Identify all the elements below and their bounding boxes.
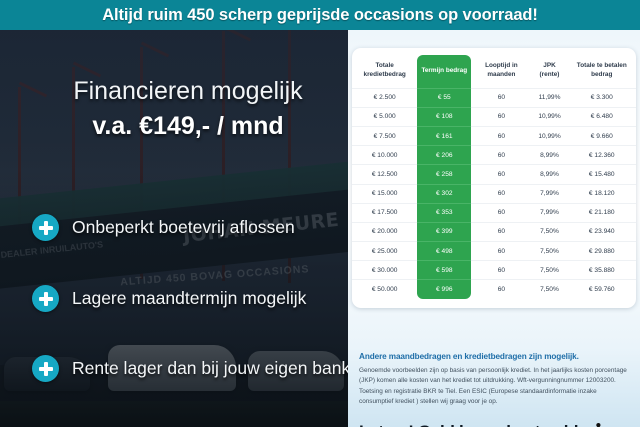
left-pane: JOHAN MEURE DEALER INRUILAUTO'S ALTIJD 4… [0, 30, 348, 427]
col-header-duration: Looptijd in maanden [471, 55, 531, 88]
col-header-term-amount: Termijn bedrag [417, 55, 471, 88]
cell-term-amount: € 55 [417, 88, 471, 107]
col-header-total-payable: Totale te betalen bedrag [567, 55, 636, 88]
cell-term-amount: € 258 [417, 165, 471, 184]
bullet-item-1: Onbeperkt boetevrij aflossen [32, 214, 295, 241]
cell-jpk: 7,99% [532, 203, 568, 222]
table-row: € 50.000 € 996 60 7,50% € 59.760 [352, 280, 636, 299]
rate-table-body: € 2.500 € 55 60 11,99% € 3.300 € 5.000 €… [352, 88, 636, 299]
running-man-icon [583, 422, 605, 427]
cell-duration: 60 [471, 261, 531, 280]
cell-total-credit: € 15.000 [352, 184, 417, 203]
cell-total-credit: € 50.000 [352, 280, 417, 299]
cell-term-amount: € 498 [417, 242, 471, 261]
cell-total-credit: € 10.000 [352, 146, 417, 165]
col-header-total-credit: Totale kredietbedrag [352, 55, 417, 88]
cell-jpk: 7,99% [532, 184, 568, 203]
cell-duration: 60 [471, 184, 531, 203]
table-row: € 12.500 € 258 60 8,99% € 15.480 [352, 165, 636, 184]
warning-block: Let op! Geld lenen kost geld [359, 422, 605, 427]
cell-term-amount: € 598 [417, 261, 471, 280]
cell-jpk: 8,99% [532, 165, 568, 184]
table-row: € 15.000 € 302 60 7,99% € 18.120 [352, 184, 636, 203]
cell-term-amount: € 353 [417, 203, 471, 222]
rate-table: Totale kredietbedrag Termijn bedrag Loop… [352, 55, 636, 299]
note-body: Genoemde voorbeelden zijn op basis van p… [359, 366, 627, 408]
cell-duration: 60 [471, 165, 531, 184]
col-header-jpk: JPK (rente) [532, 55, 568, 88]
cell-duration: 60 [471, 126, 531, 145]
table-row: € 30.000 € 598 60 7,50% € 35.880 [352, 261, 636, 280]
cell-jpk: 7,50% [532, 280, 568, 299]
cell-total-payable: € 6.480 [567, 107, 636, 126]
finance-title: Financieren mogelijk [38, 78, 338, 104]
cell-duration: 60 [471, 107, 531, 126]
table-row: € 17.500 € 353 60 7,99% € 21.180 [352, 203, 636, 222]
plus-icon [32, 355, 59, 382]
cell-total-payable: € 18.120 [567, 184, 636, 203]
rate-table-card: Totale kredietbedrag Termijn bedrag Loop… [352, 48, 636, 308]
bullet-item-3: Rente lager dan bij jouw eigen bank [32, 355, 348, 382]
cell-jpk: 7,50% [532, 242, 568, 261]
cell-duration: 60 [471, 146, 531, 165]
cell-total-payable: € 35.880 [567, 261, 636, 280]
bullet-item-2: Lagere maandtermijn mogelijk [32, 285, 306, 312]
cell-jpk: 7,50% [532, 261, 568, 280]
cell-total-payable: € 15.480 [567, 165, 636, 184]
cell-total-payable: € 23.940 [567, 222, 636, 241]
cell-duration: 60 [471, 88, 531, 107]
cell-total-credit: € 17.500 [352, 203, 417, 222]
finance-subtitle: v.a. €149,- / mnd [38, 112, 338, 141]
plus-icon [32, 214, 59, 241]
table-row: € 7.500 € 161 60 10,99% € 9.660 [352, 126, 636, 145]
table-header-row: Totale kredietbedrag Termijn bedrag Loop… [352, 55, 636, 88]
cell-duration: 60 [471, 280, 531, 299]
cell-total-payable: € 29.880 [567, 242, 636, 261]
cell-duration: 60 [471, 203, 531, 222]
table-row: € 2.500 € 55 60 11,99% € 3.300 [352, 88, 636, 107]
table-row: € 10.000 € 206 60 8,99% € 12.360 [352, 146, 636, 165]
plus-icon [32, 285, 59, 312]
cell-total-payable: € 21.180 [567, 203, 636, 222]
table-row: € 5.000 € 108 60 10,99% € 6.480 [352, 107, 636, 126]
cell-total-credit: € 5.000 [352, 107, 417, 126]
cell-total-credit: € 12.500 [352, 165, 417, 184]
table-row: € 25.000 € 498 60 7,50% € 29.880 [352, 242, 636, 261]
cell-jpk: 10,99% [532, 107, 568, 126]
right-pane: Totale kredietbedrag Termijn bedrag Loop… [348, 30, 640, 427]
bullet-label: Onbeperkt boetevrij aflossen [72, 217, 295, 238]
cell-total-payable: € 59.760 [567, 280, 636, 299]
cell-term-amount: € 108 [417, 107, 471, 126]
headline-bar: Altijd ruim 450 scherp geprijsde occasio… [0, 0, 640, 30]
cell-jpk: 10,99% [532, 126, 568, 145]
cell-jpk: 11,99% [532, 88, 568, 107]
cell-term-amount: € 399 [417, 222, 471, 241]
headline-text: Altijd ruim 450 scherp geprijsde occasio… [102, 6, 538, 25]
cell-duration: 60 [471, 242, 531, 261]
table-row: € 20.000 € 399 60 7,50% € 23.940 [352, 222, 636, 241]
cell-total-credit: € 7.500 [352, 126, 417, 145]
cell-term-amount: € 996 [417, 280, 471, 299]
cell-term-amount: € 161 [417, 126, 471, 145]
cell-total-payable: € 9.660 [567, 126, 636, 145]
warning-text: Let op! Geld lenen kost geld [359, 422, 578, 427]
bullet-label: Rente lager dan bij jouw eigen bank [72, 358, 348, 379]
cell-total-credit: € 30.000 [352, 261, 417, 280]
cell-total-payable: € 3.300 [567, 88, 636, 107]
cell-jpk: 7,50% [532, 222, 568, 241]
cell-duration: 60 [471, 222, 531, 241]
cell-jpk: 8,99% [532, 146, 568, 165]
cell-total-payable: € 12.360 [567, 146, 636, 165]
cell-total-credit: € 20.000 [352, 222, 417, 241]
cell-total-credit: € 25.000 [352, 242, 417, 261]
cell-term-amount: € 206 [417, 146, 471, 165]
rate-table-head: Totale kredietbedrag Termijn bedrag Loop… [352, 55, 636, 88]
cell-total-credit: € 2.500 [352, 88, 417, 107]
bullet-label: Lagere maandtermijn mogelijk [72, 288, 306, 309]
note-title: Andere maandbedragen en kredietbedragen … [359, 352, 631, 361]
cell-term-amount: € 302 [417, 184, 471, 203]
promo-banner: Altijd ruim 450 scherp geprijsde occasio… [0, 0, 640, 427]
